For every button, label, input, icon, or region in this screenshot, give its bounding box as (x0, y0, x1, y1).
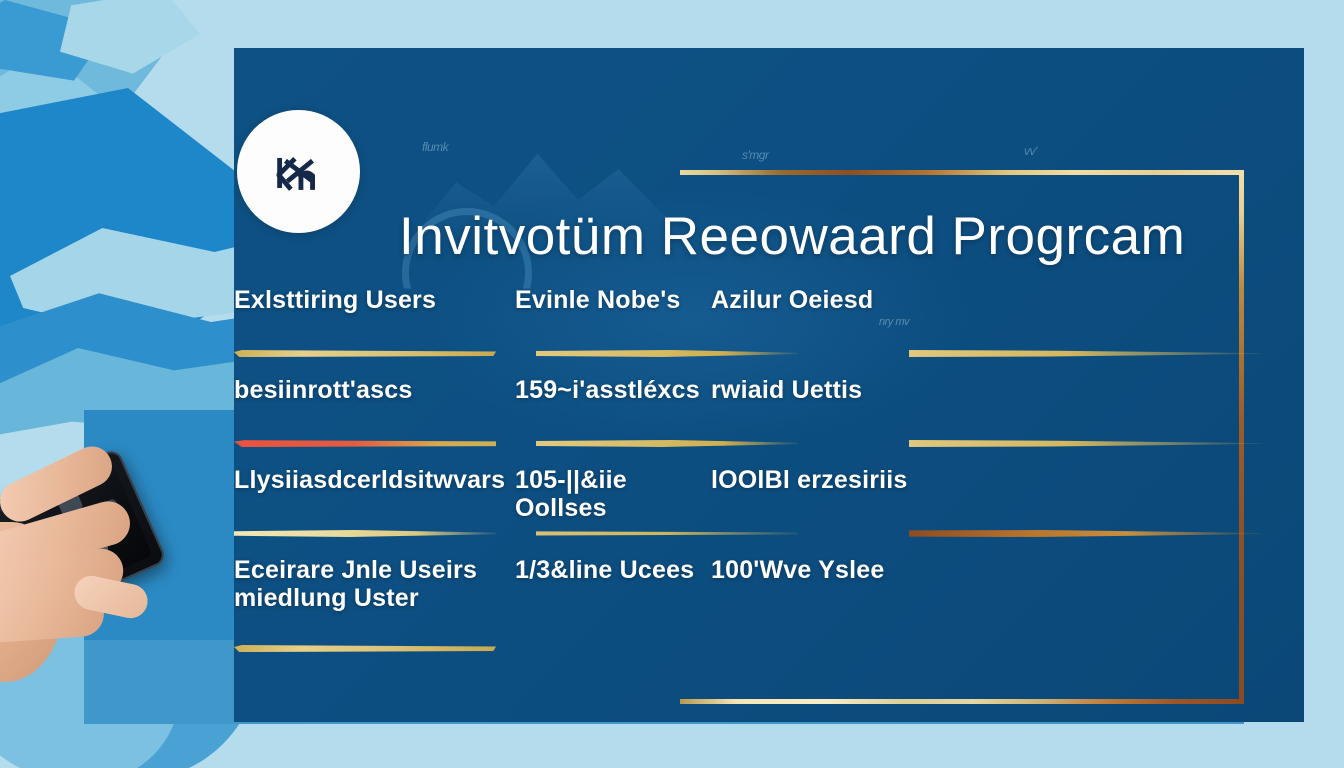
table-cell-reward: rwiaid Uettis (711, 376, 941, 404)
table-row: Eceirare Jnle Useirs miedlung Uster 1/3&… (234, 556, 1304, 656)
table-cell-count: 159~i'asstléxcs (515, 376, 715, 404)
table-cell-reward: lOOlBl erzesiriis (711, 466, 941, 494)
table-cell-tier: besiinrott'ascs (234, 376, 514, 404)
divider-segment (234, 530, 496, 537)
table-cell-tier: Llysiiasdcerldsitwvars (234, 466, 514, 494)
divider-segment (909, 530, 1261, 537)
divider-segment (909, 440, 1261, 447)
abstract-monogram-logo-icon (268, 141, 330, 203)
table-cell-count: Evinle Nobe's (515, 286, 715, 314)
divider-segment (536, 530, 798, 537)
row-divider (234, 641, 1264, 655)
banner-canvas: flumk s'mgr vv' nry mv (0, 0, 1344, 768)
table-cell-reward: 100'Wve Yslee (711, 556, 941, 584)
table-cell-tier: Exlsttiring Users (234, 286, 514, 314)
main-panel: flumk s'mgr vv' nry mv (234, 48, 1304, 722)
table-cell-reward: Azilur Oeiesd (711, 286, 941, 314)
divider-segment (536, 350, 798, 357)
table-cell-count: 105-||&iie Oollses (515, 466, 715, 522)
row-divider (234, 346, 1264, 360)
panel-content: Invitvotüm Reeowaard Progrcam Exlsttirin… (234, 48, 1304, 722)
row-divider (234, 436, 1264, 450)
divider-segment (234, 350, 496, 357)
divider-segment (909, 350, 1261, 357)
divider-segment (536, 440, 798, 447)
divider-segment (234, 440, 496, 447)
page-title: Invitvotüm Reeowaard Progrcam (399, 206, 1259, 267)
table-cell-count: 1/3&line Ucees (515, 556, 715, 584)
divider-segment (234, 645, 496, 652)
row-divider (234, 526, 1264, 540)
logo-badge (237, 110, 360, 233)
table-row: Llysiiasdcerldsitwvars 105-||&iie Oollse… (234, 466, 1304, 556)
reward-tier-table: Exlsttiring Users Evinle Nobe's Azilur O… (234, 286, 1304, 656)
table-cell-tier: Eceirare Jnle Useirs miedlung Uster (234, 556, 514, 612)
table-row: besiinrott'ascs 159~i'asstléxcs rwiaid U… (234, 376, 1304, 466)
hands-holding-smartphone (0, 462, 204, 712)
table-row: Exlsttiring Users Evinle Nobe's Azilur O… (234, 286, 1304, 376)
